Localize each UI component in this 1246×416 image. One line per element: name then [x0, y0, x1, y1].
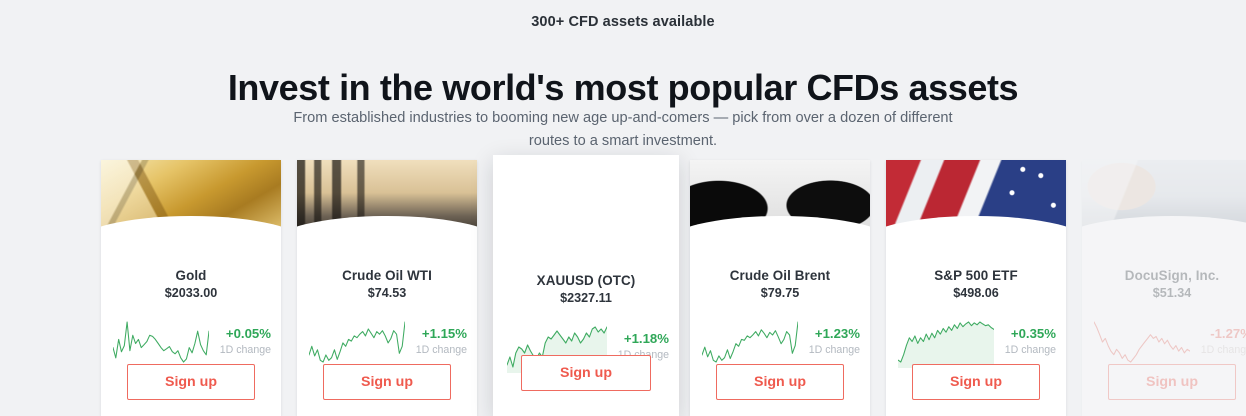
- section-eyebrow: 300+ CFD assets available: [0, 14, 1246, 30]
- change-percent: +1.15%: [416, 326, 467, 342]
- change-period-label: 1D change: [220, 343, 271, 357]
- asset-name: Crude Oil WTI: [297, 268, 477, 283]
- asset-name: Crude Oil Brent: [690, 268, 870, 283]
- change-period-label: 1D change: [1201, 343, 1246, 357]
- asset-price: $51.34: [1082, 286, 1246, 300]
- asset-price: $74.53: [297, 286, 477, 300]
- asset-card-body: Gold$2033.00+0.05%1D changeSign up: [101, 238, 281, 416]
- asset-price: $2033.00: [101, 286, 281, 300]
- change-block: +1.23%1D change: [809, 326, 860, 357]
- asset-price: $2327.11: [493, 291, 679, 305]
- sign-up-button[interactable]: Sign up: [323, 364, 451, 400]
- sign-up-button[interactable]: Sign up: [1108, 364, 1236, 400]
- asset-card-body: Crude Oil Brent$79.75+1.23%1D changeSign…: [690, 238, 870, 416]
- change-block: +0.05%1D change: [220, 326, 271, 357]
- sparkline-chart: [1094, 318, 1190, 368]
- change-period-label: 1D change: [809, 343, 860, 357]
- sparkline-chart: [898, 318, 994, 368]
- section-subtitle: From established industries to booming n…: [273, 107, 973, 153]
- asset-name: Gold: [101, 268, 281, 283]
- change-percent: +1.23%: [809, 326, 860, 342]
- asset-thumbnail: [886, 160, 1066, 238]
- change-percent: +0.05%: [220, 326, 271, 342]
- change-block: +1.15%1D change: [416, 326, 467, 357]
- change-period-label: 1D change: [416, 343, 467, 357]
- sparkline-chart: [702, 318, 798, 368]
- asset-card-body: XAUUSD (OTC)$2327.11+1.18%1D changeSign …: [493, 243, 679, 416]
- asset-name: S&P 500 ETF: [886, 268, 1066, 283]
- sign-up-button[interactable]: Sign up: [716, 364, 844, 400]
- asset-card[interactable]: Crude Oil Brent$79.75+1.23%1D changeSign…: [690, 160, 870, 416]
- asset-price: $79.75: [690, 286, 870, 300]
- asset-card-body: DocuSign, Inc.$51.34-1.27%1D changeSign …: [1082, 238, 1246, 416]
- cfd-assets-section: 300+ CFD assets available Invest in the …: [0, 0, 1246, 411]
- sign-up-button[interactable]: Sign up: [127, 364, 255, 400]
- asset-card[interactable]: XAUUSD (OTC)$2327.11+1.18%1D changeSign …: [493, 155, 679, 416]
- change-percent: +1.18%: [618, 331, 669, 347]
- asset-card[interactable]: S&P 500 ETF$498.06+0.35%1D changeSign up: [886, 160, 1066, 416]
- change-percent: +0.35%: [1005, 326, 1056, 342]
- asset-thumbnail: [101, 160, 281, 238]
- asset-card[interactable]: Gold$2033.00+0.05%1D changeSign up: [101, 160, 281, 416]
- change-period-label: 1D change: [1005, 343, 1056, 357]
- sparkline-chart: [113, 318, 209, 368]
- asset-thumbnail: [690, 160, 870, 238]
- asset-card-body: Crude Oil WTI$74.53+1.15%1D changeSign u…: [297, 238, 477, 416]
- asset-thumbnail: [1082, 160, 1246, 238]
- asset-cards-carousel[interactable]: Gold$2033.00+0.05%1D changeSign upCrude …: [0, 155, 1246, 411]
- asset-card[interactable]: Crude Oil WTI$74.53+1.15%1D changeSign u…: [297, 160, 477, 416]
- sparkline-chart: [309, 318, 405, 368]
- change-block: +0.35%1D change: [1005, 326, 1056, 357]
- sign-up-button[interactable]: Sign up: [912, 364, 1040, 400]
- asset-price: $498.06: [886, 286, 1066, 300]
- change-percent: -1.27%: [1201, 326, 1246, 342]
- sign-up-button[interactable]: Sign up: [521, 355, 651, 391]
- page-title: Invest in the world's most popular CFDs …: [0, 66, 1246, 110]
- asset-name: XAUUSD (OTC): [493, 273, 679, 288]
- asset-card-body: S&P 500 ETF$498.06+0.35%1D changeSign up: [886, 238, 1066, 416]
- asset-thumbnail: [297, 160, 477, 238]
- asset-name: DocuSign, Inc.: [1082, 268, 1246, 283]
- change-block: -1.27%1D change: [1201, 326, 1246, 357]
- asset-card[interactable]: DocuSign, Inc.$51.34-1.27%1D changeSign …: [1082, 160, 1246, 416]
